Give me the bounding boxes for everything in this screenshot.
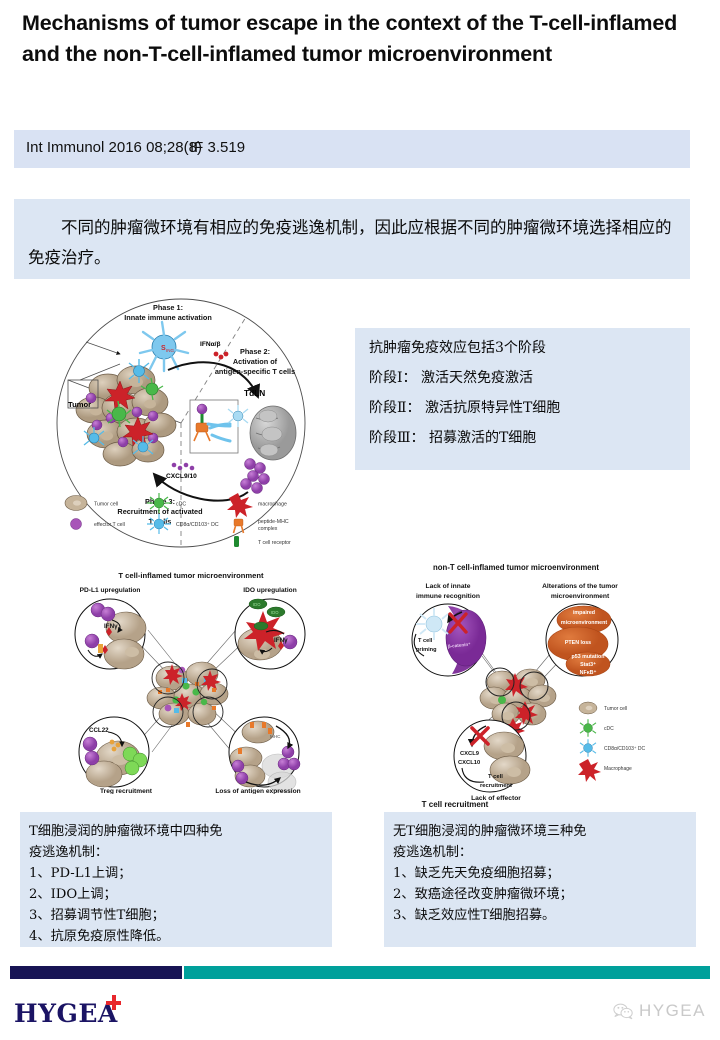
center-tumor-mass xyxy=(147,662,228,727)
lymph-node xyxy=(250,406,296,460)
inflamed-title: T cell-inflamed tumor microenvironment xyxy=(118,571,264,580)
tdln-label: TdLN xyxy=(244,388,265,398)
concl-left-line-3: 2、IDO上调； xyxy=(29,883,117,902)
concl-right-line-4: 3、缺乏效应性T细胞招募。 xyxy=(393,904,555,923)
phase-1-title-line1: Phase 1: xyxy=(153,303,183,312)
pten-loss-label: PTEN loss xyxy=(565,640,591,646)
tumor-label: Tumor xyxy=(68,400,91,409)
wechat-icon xyxy=(613,1003,633,1020)
phase-2-title-line1: Phase 2: xyxy=(240,347,270,356)
mhc-label: MHC xyxy=(270,734,281,739)
svg-text:ING: ING xyxy=(166,348,175,353)
footer-bar-teal xyxy=(184,966,710,979)
lack-effector-caption-line2-wrap: T cell recruitment xyxy=(392,800,682,809)
lack-effector-label-2: T cell recruitment xyxy=(422,800,489,809)
legend-cdc: cDC xyxy=(176,502,186,508)
phase-1-title-line2: Innate immune activation xyxy=(124,313,212,322)
conclusion-box-non-inflamed: 无T细胞浸润的肿瘤微环境三种免 疫逃逸机制： 1、缺乏先天免疫细胞招募； 2、致… xyxy=(384,812,696,947)
figure-non-t-cell-inflamed-tme: non-T cell-inflamed tumor microenvironme… xyxy=(392,556,682,806)
legend-effector-t-cell: effector T cell xyxy=(94,522,125,528)
phases-legend-svg: Tumor cell cDC macrophage effector T cel… xyxy=(62,492,302,550)
treg-recruitment-label: Treg recruitment xyxy=(100,788,153,794)
phase-2-title-line2: Activation of xyxy=(233,357,278,366)
conclusion-box-inflamed: T细胞浸润的肿瘤微环境中四种免 疫逃逸机制： 1、PD-L1上调； 2、IDO上… xyxy=(20,812,332,947)
concl-right-line-0: 无T细胞浸润的肿瘤微环境三种免 xyxy=(393,820,586,839)
ido-tag-2: IDO xyxy=(271,610,279,615)
noninflamed-title: non-T cell-inflamed tumor microenvironme… xyxy=(433,563,599,572)
t-cell-priming-label-1: T cell xyxy=(418,638,433,644)
cxcl10-label: CXCL10 xyxy=(458,760,480,766)
phase-1-label: 阶段Ⅰ： 激活天然免疫激活 xyxy=(369,367,533,387)
lack-innate-panel: β-catenin⁺ T cell priming xyxy=(412,604,486,676)
tme-alterations-label-2: microenvironment xyxy=(551,593,610,600)
phase-2-label: 阶段Ⅱ： 激活抗原特异性T细胞 xyxy=(369,397,560,417)
figure-t-cell-inflamed-tme: T cell-inflamed tumor microenvironment xyxy=(62,566,320,794)
ifn-gamma-label-1: IFNγ xyxy=(104,623,118,630)
figure-phases-legend: Tumor cell cDC macrophage effector T cel… xyxy=(62,492,302,550)
inflamed-diagram-svg: T cell-inflamed tumor microenvironment xyxy=(62,566,320,794)
ido-panel: IDO IDO IFNγ xyxy=(235,599,305,669)
nfkb-label: NFκB⁺ xyxy=(580,670,597,676)
legend-tcr: T cell receptor xyxy=(258,540,291,546)
antigen-loss-panel: MHC xyxy=(229,717,300,792)
concl-left-line-1: 疫逃逸机制： xyxy=(29,841,108,860)
concl-right-line-2: 1、缺乏先天免疫细胞招募； xyxy=(393,862,560,881)
pdl1-panel: IFNγ xyxy=(75,599,146,669)
impaired-label-1: impaired xyxy=(573,610,595,616)
phases-heading: 抗肿瘤免疫效应包括3个阶段 xyxy=(369,337,546,357)
watermark-text: HYGEA xyxy=(639,1001,706,1021)
tme-alterations-panel: impaired microenvironment PTEN loss p53 … xyxy=(546,604,618,676)
concl-right-line-3: 2、致癌途径改变肿瘤微环境； xyxy=(393,883,573,902)
noninflamed-diagram-svg: non-T cell-inflamed tumor microenvironme… xyxy=(392,556,682,806)
red-cross-icon xyxy=(106,995,121,1010)
stat3-label: Stat3⁺ xyxy=(580,662,596,668)
phase-3-label: 阶段Ⅲ： 招募激活的T细胞 xyxy=(369,427,536,447)
footer-bar-navy xyxy=(10,966,182,979)
lack-innate-label-2: immune recognition xyxy=(416,593,480,600)
concl-left-line-0: T细胞浸润的肿瘤微环境中四种免 xyxy=(29,820,222,839)
journal-citation: Int Immunol 2016 08;28(8) xyxy=(26,139,202,156)
antigen-loss-label: Loss of antigen expression xyxy=(215,788,300,794)
lack-innate-label-1: Lack of innate xyxy=(426,583,471,590)
impact-factor: IF 3.519 xyxy=(190,139,245,156)
legend-cd8-dc: CD8α/CD103⁺ DC xyxy=(176,522,219,528)
ido-upregulation-label: IDO upregulation xyxy=(243,587,296,594)
ifn-alpha-beta-label: IFNα/β xyxy=(200,341,221,348)
legend3-cdc: cDC xyxy=(604,726,614,732)
legend3-macrophage: Macrophage xyxy=(604,766,632,772)
concl-right-line-1: 疫逃逸机制： xyxy=(393,841,472,860)
summary-text: 不同的肿瘤微环境有相应的免疫逃逸机制，因此应根据不同的肿瘤微环境选择相应的免疫治… xyxy=(14,199,690,273)
wechat-watermark: HYGEA xyxy=(613,1001,706,1021)
legend3-cd8-dc: CD8α/CD103⁺ DC xyxy=(604,746,645,752)
hygea-logo-text: HYGEA xyxy=(14,999,118,1028)
ido-tag-1: IDO xyxy=(253,602,261,607)
legend3-tumor-cell: Tumor cell xyxy=(604,706,627,712)
legend-macrophage: macrophage xyxy=(258,502,287,508)
ccl22-label: CCL22 xyxy=(89,727,109,734)
legend-peptide-mhc: peptide-MHC xyxy=(258,519,289,525)
t-cell-recruit-label-2: recruitment xyxy=(480,783,512,789)
pdl1-upregulation-label: PD-L1 upregulation xyxy=(80,587,141,594)
concl-left-line-2: 1、PD-L1上调； xyxy=(29,862,131,881)
concl-left-line-5: 4、抗原免疫原性降低。 xyxy=(29,925,169,944)
p53-mutation-label: p53 mutation xyxy=(572,654,605,660)
legend-tumor-cell: Tumor cell xyxy=(94,502,118,508)
t-cell-recruit-label-1: T cell xyxy=(488,774,503,780)
treg-panel: CCL22 xyxy=(79,717,149,787)
legend-peptide-mhc-2: complex xyxy=(258,526,278,532)
page-title: Mechanisms of tumor escape in the contex… xyxy=(22,8,698,70)
concl-left-line-4: 3、招募调节性T细胞； xyxy=(29,904,165,923)
noninflamed-legend: Tumor cell cDC CD8α/CD103⁺ DC Macrophage xyxy=(578,702,645,782)
journal-info-bar: Int Immunol 2016 08;28(8) IF 3.519 xyxy=(14,130,690,168)
impaired-label-2: microenvironment xyxy=(561,620,607,626)
cxcl9-10-label: CXCL9/10 xyxy=(166,473,197,480)
phase-2-title-line3: antigen-specific T cells xyxy=(215,367,295,376)
phases-text-box: 抗肿瘤免疫效应包括3个阶段 阶段Ⅰ： 激活天然免疫激活 阶段Ⅱ： 激活抗原特异性… xyxy=(355,328,690,470)
cxcl9-label: CXCL9 xyxy=(460,751,480,757)
summary-box: 不同的肿瘤微环境有相应的免疫逃逸机制，因此应根据不同的肿瘤微环境选择相应的免疫治… xyxy=(14,199,690,279)
tme-alterations-label-1: Alterations of the tumor xyxy=(542,583,618,590)
